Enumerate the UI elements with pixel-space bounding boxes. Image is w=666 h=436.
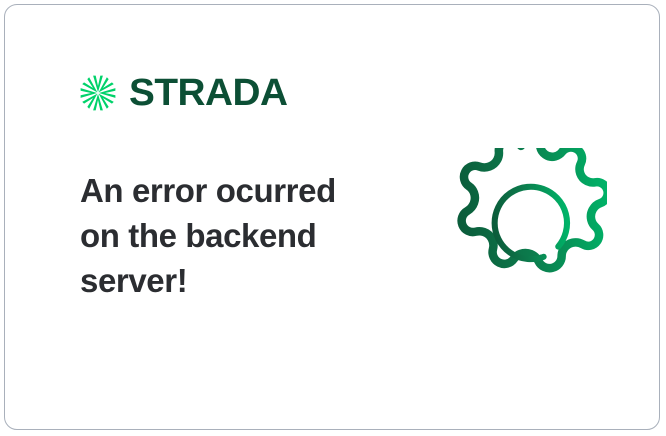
gear-cog-icon	[451, 148, 607, 302]
strada-asterisk-icon	[78, 73, 118, 113]
brand-wordmark: STRADA	[129, 74, 287, 112]
error-message-text: An error ocurred on the backend server!	[80, 168, 380, 303]
error-card: STRADA An error ocurred on the backend s…	[4, 4, 660, 430]
brand-lockup: STRADA	[78, 73, 284, 113]
